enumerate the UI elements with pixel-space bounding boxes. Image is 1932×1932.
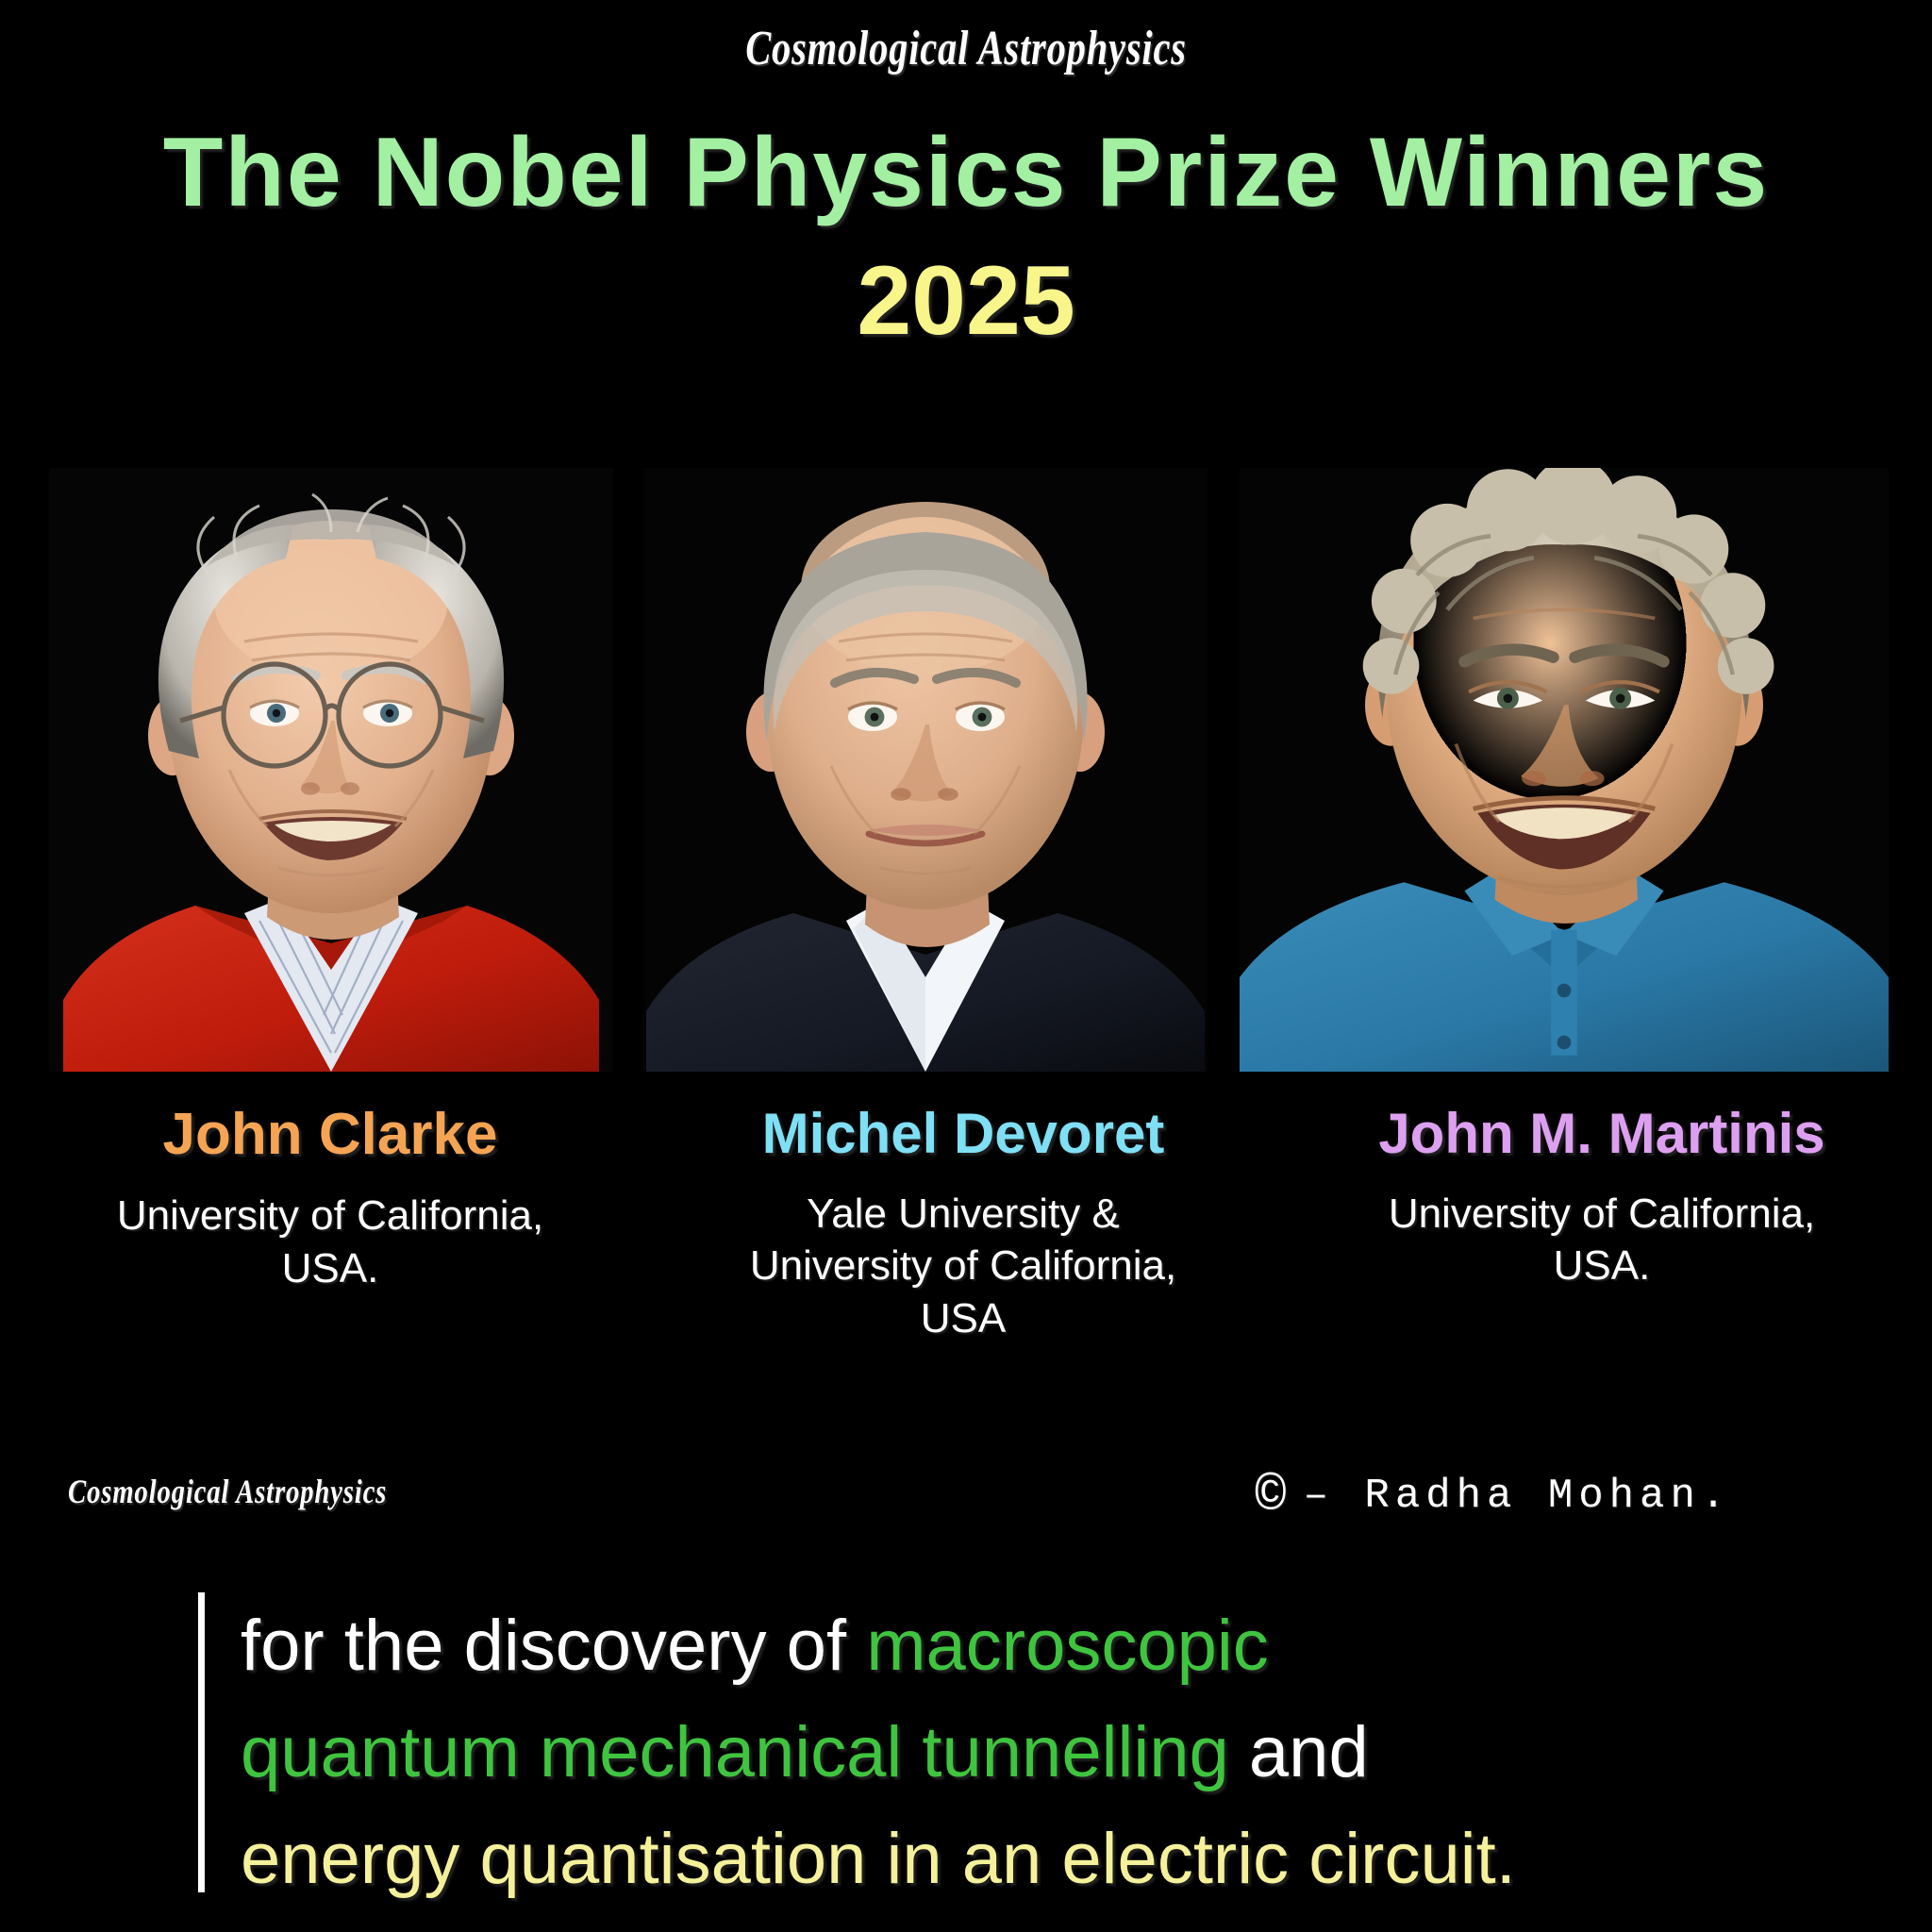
title-year: 2025: [0, 245, 1932, 358]
poster-root: Cosmological Astrophysics The Nobel Phys…: [0, 0, 1932, 1932]
portrait-illustration: [643, 468, 1207, 1072]
laureate-name-1: John Clarke: [19, 1104, 641, 1165]
laureate-column-3: John M. Martinis University of Californi…: [1281, 1104, 1923, 1292]
brand-heading: Cosmological Astrophysics: [212, 21, 1719, 76]
laureate-name-3: John M. Martinis: [1281, 1104, 1923, 1163]
footer-brand: Cosmological Astrophysics: [68, 1472, 387, 1511]
copyright-icon: ©: [1255, 1470, 1287, 1523]
portrait-john-clarke: [49, 468, 613, 1072]
portrait-row: [0, 468, 1932, 1072]
laureate-info-row: John Clarke University of California, US…: [0, 1104, 1932, 1424]
citation-line-2-accent: quantum mechanical tunnelling: [241, 1712, 1229, 1792]
laureate-affiliation-1: University of California, USA.: [19, 1190, 641, 1294]
portrait-illustration: [49, 468, 613, 1072]
citation-line-1-accent: macroscopic: [866, 1606, 1269, 1686]
citation-line-2: quantum mechanical tunnelling and: [241, 1699, 1887, 1806]
laureate-column-1: John Clarke University of California, US…: [19, 1104, 641, 1294]
citation-line-3: energy quantisation in an electric circu…: [241, 1806, 1887, 1912]
laureate-column-2: Michel Devoret Yale University & Univers…: [638, 1104, 1289, 1344]
citation-line-1: for the discovery of macroscopic: [241, 1592, 1887, 1699]
citation-line-2-plain: and: [1229, 1712, 1369, 1792]
citation-line-1-plain: for the discovery of: [241, 1606, 866, 1686]
portrait-illustration: [1240, 468, 1889, 1072]
portrait-john-m-martinis: [1240, 468, 1889, 1072]
laureate-affiliation-3: University of California, USA.: [1281, 1188, 1923, 1292]
copyright-text: – Radha Mohan.: [1304, 1473, 1732, 1520]
laureate-affiliation-2: Yale University & University of Californ…: [638, 1188, 1289, 1344]
portrait-michel-devoret: [643, 468, 1207, 1072]
prize-citation: for the discovery of macroscopic quantum…: [198, 1592, 1887, 1892]
page-title: The Nobel Physics Prize Winners: [0, 117, 1932, 229]
laureate-name-2: Michel Devoret: [638, 1104, 1289, 1163]
copyright-credit: © – Radha Mohan.: [1255, 1470, 1731, 1523]
